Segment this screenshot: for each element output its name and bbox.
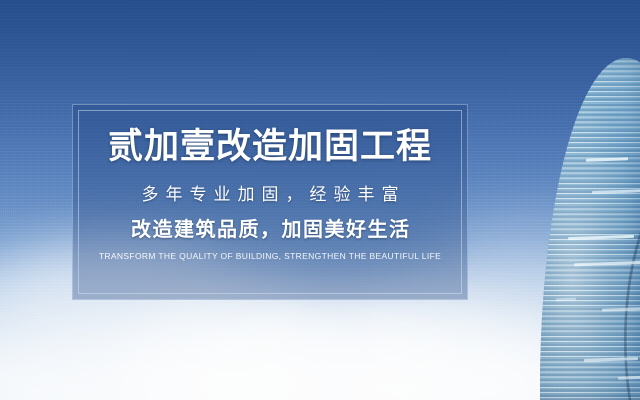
banner-headline: 贰加壹改造加固工程 xyxy=(73,129,467,164)
banner-subtitle-primary: 多年专业加固，经验丰富 xyxy=(73,186,467,203)
banner-subtitle-secondary: 改造建筑品质，加固美好生活 xyxy=(73,220,467,240)
banner-copy: 贰加壹改造加固工程 多年专业加固，经验丰富 改造建筑品质，加固美好生活 TRAN… xyxy=(73,105,467,261)
hero-banner: 贰加壹改造加固工程 多年专业加固，经验丰富 改造建筑品质，加固美好生活 TRAN… xyxy=(0,0,640,400)
text-frame-panel: 贰加壹改造加固工程 多年专业加固，经验丰富 改造建筑品质，加固美好生活 TRAN… xyxy=(72,104,468,300)
banner-subtitle-english: TRANSFORM THE QUALITY OF BUILDING, STREN… xyxy=(73,252,467,261)
